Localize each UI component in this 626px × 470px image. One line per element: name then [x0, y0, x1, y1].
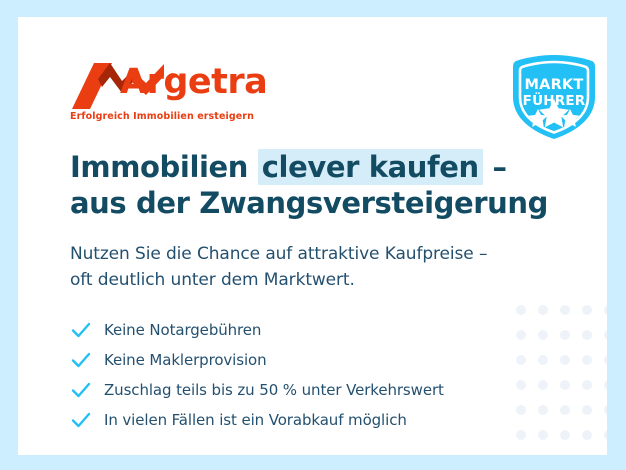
dot-grid-decoration — [516, 305, 607, 455]
shield-icon — [508, 53, 600, 141]
decorative-dot — [538, 305, 548, 315]
logo-tagline: Erfolgreich Immobilien ersteigern — [70, 111, 254, 122]
list-item-label: In vielen Fällen ist ein Vorabkauf mögli… — [104, 411, 407, 429]
decorative-dot — [604, 405, 607, 415]
decorative-dot — [560, 355, 570, 365]
decorative-dot — [560, 380, 570, 390]
subtitle-line-2: oft deutlich unter dem Marktwert. — [70, 267, 540, 293]
decorative-dot — [582, 330, 592, 340]
page-title: Immobilien clever kaufen – aus der Zwang… — [70, 149, 550, 222]
decorative-dot — [516, 430, 526, 440]
subtitle: Nutzen Sie die Chance auf attraktive Kau… — [70, 241, 540, 294]
banner-card: Argetra Erfolgreich Immobilien ersteiger… — [18, 17, 607, 455]
check-icon — [70, 319, 92, 341]
decorative-dot — [516, 305, 526, 315]
list-item-label: Zuschlag teils bis zu 50 % unter Verkehr… — [104, 381, 444, 399]
decorative-dot — [538, 380, 548, 390]
check-icon — [70, 349, 92, 371]
decorative-dot — [560, 330, 570, 340]
promo-banner: Argetra Erfolgreich Immobilien ersteiger… — [0, 0, 626, 470]
decorative-dot — [516, 330, 526, 340]
logo-wordmark: Argetra — [120, 65, 267, 100]
decorative-dot — [538, 430, 548, 440]
headline-line-2: aus der Zwangsversteigerung — [70, 185, 550, 221]
decorative-dot — [538, 405, 548, 415]
decorative-dot — [582, 305, 592, 315]
decorative-dot — [604, 355, 607, 365]
decorative-dot — [582, 405, 592, 415]
list-item: Keine Maklerprovision — [70, 345, 510, 375]
decorative-dot — [516, 355, 526, 365]
decorative-dot — [604, 330, 607, 340]
list-item: Keine Notargebühren — [70, 315, 510, 345]
decorative-dot — [604, 380, 607, 390]
decorative-dot — [560, 305, 570, 315]
decorative-dot — [604, 305, 607, 315]
decorative-dot — [604, 430, 607, 440]
decorative-dot — [560, 405, 570, 415]
headline-text-after: – — [483, 150, 507, 184]
decorative-dot — [582, 355, 592, 365]
check-icon — [70, 379, 92, 401]
decorative-dot — [516, 380, 526, 390]
list-item-label: Keine Notargebühren — [104, 321, 261, 339]
decorative-dot — [538, 330, 548, 340]
headline-text-before: Immobilien — [70, 150, 258, 184]
benefits-list: Keine Notargebühren Keine Maklerprovisio… — [70, 315, 510, 435]
check-icon — [70, 409, 92, 431]
list-item: Zuschlag teils bis zu 50 % unter Verkehr… — [70, 375, 510, 405]
argetra-logo[interactable]: Argetra Erfolgreich Immobilien ersteiger… — [70, 61, 270, 129]
subtitle-line-1: Nutzen Sie die Chance auf attraktive Kau… — [70, 241, 540, 267]
decorative-dot — [516, 405, 526, 415]
decorative-dot — [582, 430, 592, 440]
list-item: In vielen Fällen ist ein Vorabkauf mögli… — [70, 405, 510, 435]
decorative-dot — [538, 355, 548, 365]
decorative-dot — [582, 380, 592, 390]
headline-line-1: Immobilien clever kaufen – — [70, 149, 550, 185]
list-item-label: Keine Maklerprovision — [104, 351, 267, 369]
decorative-dot — [560, 430, 570, 440]
markt-fuehrer-badge: MARKT FÜHRER — [508, 53, 600, 141]
headline-highlight: clever kaufen — [258, 149, 483, 185]
